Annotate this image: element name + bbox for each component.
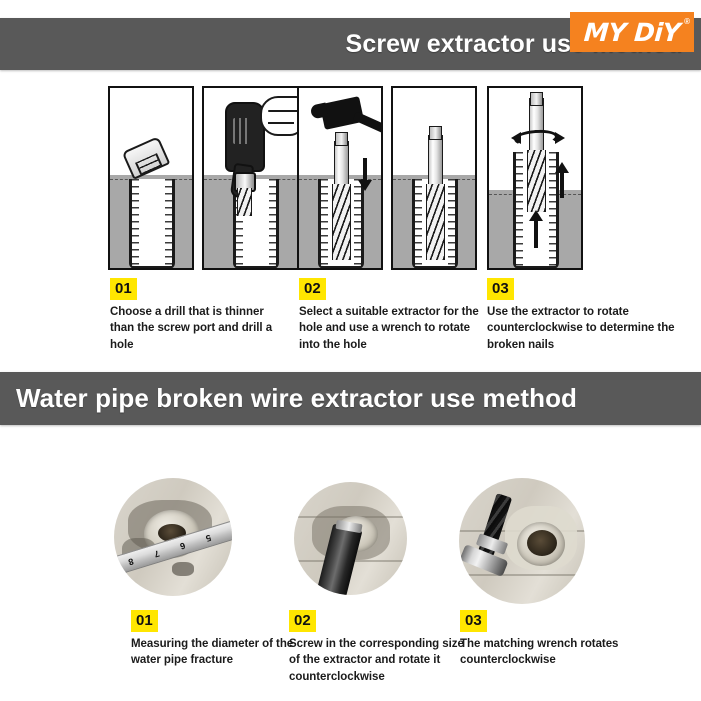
banner-title-water-pipe-extractor: Water pipe broken wire extractor use met… xyxy=(16,383,577,414)
extractor-head-icon xyxy=(335,132,348,146)
illustration-group-step-01 xyxy=(108,86,307,270)
illustration-group-step-03 xyxy=(487,86,583,270)
panel-hammer-extractor xyxy=(297,86,383,270)
step-text-01: Choose a drill that is thinner than the … xyxy=(110,304,286,353)
arrow-down-shaft xyxy=(363,158,367,182)
photo-step-text-03: The matching wrench rotates counterclock… xyxy=(460,636,650,669)
panel-drilling xyxy=(202,86,307,270)
tape-mark: 8 xyxy=(127,556,135,567)
tape-mark: 4 xyxy=(230,524,232,535)
tape-mark: 7 xyxy=(153,548,161,559)
photo-extractor-inserted xyxy=(294,482,407,595)
step-text-02: Select a suitable extractor for the hole… xyxy=(299,304,481,353)
extractor-head-icon xyxy=(429,126,442,140)
arrow-up-shaft-inner xyxy=(534,220,538,248)
extractor-spiral-icon xyxy=(527,150,546,212)
caption-photo-step-01: 01 Measuring the diameter of the water p… xyxy=(131,610,296,669)
caption-step-02: 02 Select a suitable extractor for the h… xyxy=(299,278,481,353)
caption-step-01: 01 Choose a drill that is thinner than t… xyxy=(110,278,286,353)
section-banner-water-pipe-extractor: Water pipe broken wire extractor use met… xyxy=(0,372,701,425)
panel-rotate-extract xyxy=(487,86,583,270)
photo-step-badge-03: 03 xyxy=(460,610,487,632)
caption-photo-step-02: 02 Screw in the corresponding size of th… xyxy=(289,610,469,685)
photo-measuring-pipe-fracture: 9 8 7 6 5 4 3 xyxy=(114,478,232,596)
registered-trademark-icon: ® xyxy=(684,17,690,26)
extractor-spiral-icon xyxy=(426,184,445,260)
illustration-row-screw-extractor xyxy=(0,86,701,276)
arrow-up-icon-inner xyxy=(529,210,543,221)
extractor-shaft-icon xyxy=(428,135,443,189)
arrow-down-icon xyxy=(358,180,372,191)
photo-step-badge-01: 01 xyxy=(131,610,158,632)
drill-flute-icon xyxy=(237,188,252,216)
infographic-page: Screw extractor use method MY DiY ® xyxy=(0,0,701,701)
panel-extractor-seated xyxy=(391,86,477,270)
illustration-group-step-02 xyxy=(297,86,477,270)
caption-step-03: 03 Use the extractor to rotate countercl… xyxy=(487,278,683,353)
extractor-spiral-icon xyxy=(332,184,351,260)
photo-step-badge-02: 02 xyxy=(289,610,316,632)
drill-icon xyxy=(225,102,265,172)
brand-logo: MY DiY ® xyxy=(570,12,694,52)
photo-wrench-rotating-extractor xyxy=(459,478,585,604)
step-text-03: Use the extractor to rotate counterclock… xyxy=(487,304,683,353)
tape-mark: 5 xyxy=(204,532,212,543)
caption-photo-step-03: 03 The matching wrench rotates countercl… xyxy=(460,610,650,669)
rotate-arrow-tip-left xyxy=(511,132,521,144)
arrow-up-icon-outer xyxy=(555,162,569,173)
rotate-arrow-tip-right xyxy=(555,132,565,144)
panel-broken-screw xyxy=(108,86,194,270)
arrow-up-shaft-outer xyxy=(560,172,564,198)
screw-head-icon xyxy=(122,136,171,180)
step-badge-03: 03 xyxy=(487,278,514,300)
photo-step-text-01: Measuring the diameter of the water pipe… xyxy=(131,636,296,669)
step-badge-01: 01 xyxy=(110,278,137,300)
extractor-shaft-icon xyxy=(334,141,349,189)
brand-logo-text: MY DiY xyxy=(583,18,681,47)
extractor-shaft-icon xyxy=(529,98,544,158)
photo-step-text-02: Screw in the corresponding size of the e… xyxy=(289,636,469,685)
extractor-head-icon xyxy=(530,92,543,106)
tape-mark: 6 xyxy=(179,540,187,551)
step-badge-02: 02 xyxy=(299,278,326,300)
threaded-hole-icon xyxy=(129,179,175,269)
